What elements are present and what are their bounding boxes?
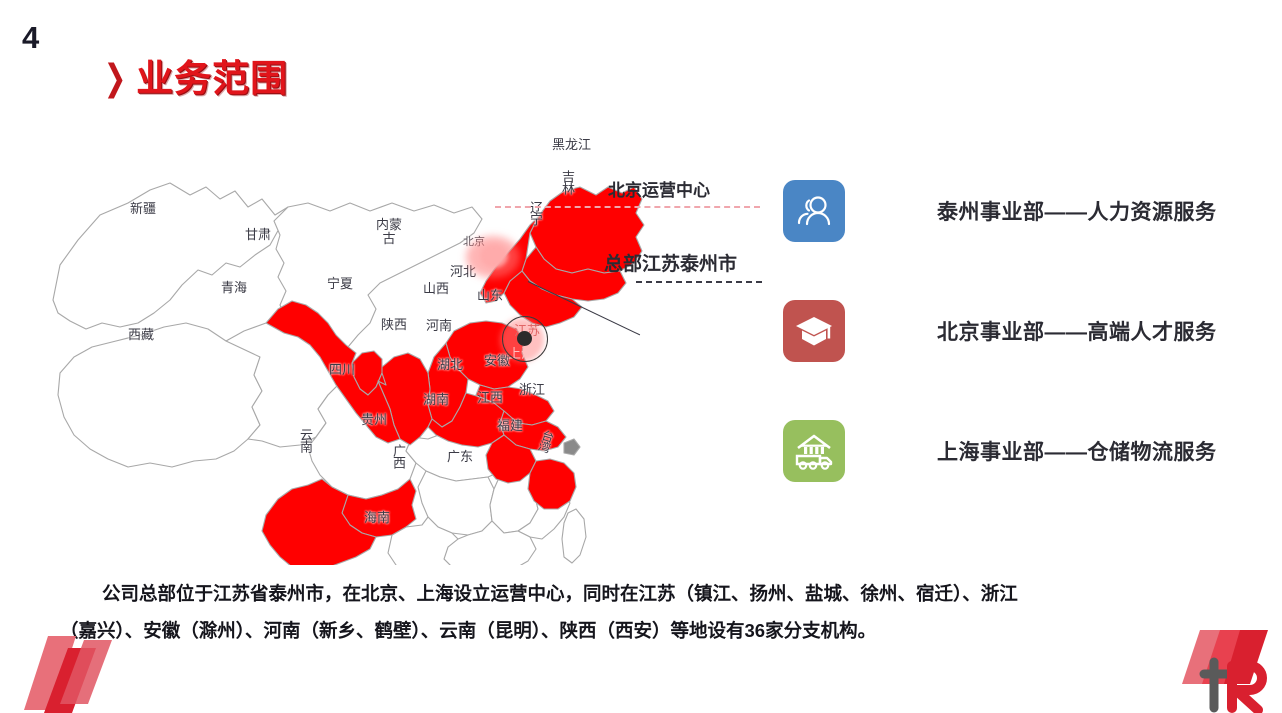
page-title: ❯ 业务范围 bbox=[100, 60, 288, 97]
province-taiwan bbox=[562, 509, 586, 563]
footer-paragraph-line-2: （嘉兴）、安徽（滁州）、河南（新乡、鹤壁）、云南（昆明）、陕西（西安）等地设有3… bbox=[60, 612, 1225, 649]
province-xizang bbox=[58, 323, 262, 467]
beijing-marker-core bbox=[480, 244, 508, 268]
china-map-svg bbox=[30, 95, 690, 565]
left-brand-mark bbox=[18, 618, 136, 713]
legend-item-taizhou[interactable]: 泰州事业部——人力资源服务 bbox=[783, 175, 1253, 247]
legend-item-beijing[interactable]: 北京事业部——高端人才服务 bbox=[783, 295, 1253, 367]
hq-callout-line bbox=[636, 281, 762, 283]
legend-label-beijing: 北京事业部——高端人才服务 bbox=[937, 316, 1217, 346]
tr-logo bbox=[1180, 622, 1276, 713]
province-shanghai bbox=[564, 439, 580, 455]
taizhou-marker-dot bbox=[517, 331, 532, 346]
page-title-text: 业务范围 bbox=[136, 60, 288, 97]
hq-callout-label: 总部江苏泰州市 bbox=[604, 249, 737, 276]
beijing-callout-label: 北京运营中心 bbox=[608, 176, 710, 201]
legend-label-shanghai: 上海事业部——仓储物流服务 bbox=[937, 436, 1217, 466]
beijing-callout-line bbox=[495, 206, 760, 208]
graduation-cap-icon bbox=[783, 300, 845, 362]
province-zhejiang bbox=[528, 459, 576, 509]
warehouse-truck-icon bbox=[783, 420, 845, 482]
legend-item-shanghai[interactable]: 上海事业部——仓储物流服务 bbox=[783, 415, 1253, 487]
chevron-right-icon: ❯ bbox=[104, 60, 127, 96]
legend-list: 泰州事业部——人力资源服务 北京事业部——高端人才服务 bbox=[783, 175, 1253, 535]
footer-paragraph-line-1: 公司总部位于江苏省泰州市，在北京、上海设立运营中心，同时在江苏（镇江、扬州、盐城… bbox=[60, 575, 1225, 612]
legend-label-taizhou: 泰州事业部——人力资源服务 bbox=[937, 196, 1217, 226]
footer-paragraph: 公司总部位于江苏省泰州市，在北京、上海设立运营中心，同时在江苏（镇江、扬州、盐城… bbox=[60, 575, 1225, 649]
province-xinjiang bbox=[53, 183, 288, 329]
page-number: 4 bbox=[22, 22, 39, 53]
china-map: 新疆 西藏 青海 甘肃 宁夏 内蒙古 陕西 山西 河南 河北 山东 北京 黑龙江… bbox=[30, 95, 690, 565]
slide-canvas: 4 ❯ 业务范围 bbox=[0, 0, 1282, 713]
two-people-icon bbox=[783, 180, 845, 242]
